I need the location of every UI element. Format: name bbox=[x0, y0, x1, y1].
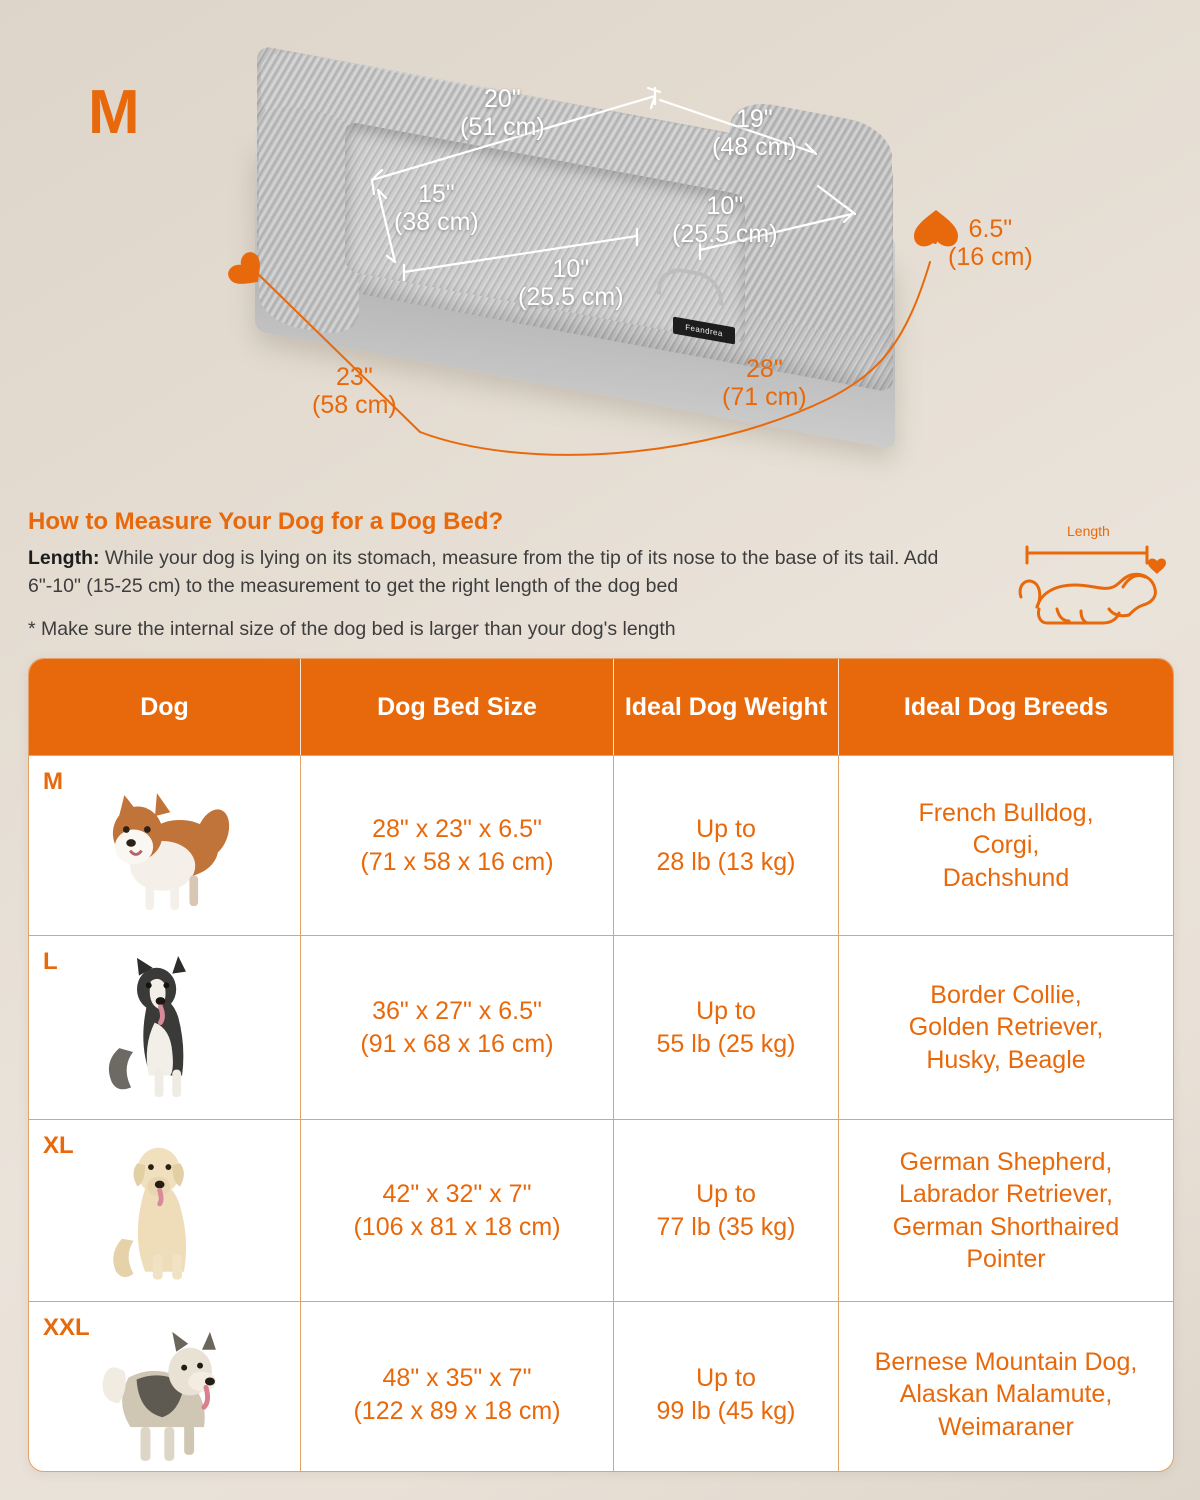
heart-icon bbox=[1148, 559, 1166, 574]
dim-bed-height: 6.5"(16 cm) bbox=[948, 215, 1033, 271]
row-dog-cell: L bbox=[29, 936, 301, 1119]
table-row: L 36" x 27" x 6.5"(91 x 68 x 16 cm) Up t… bbox=[29, 935, 1173, 1119]
table-header-breeds: Ideal Dog Breeds bbox=[839, 659, 1173, 755]
row-weight-cell: Up to77 lb (35 kg) bbox=[614, 1120, 839, 1301]
table-header-weight: Ideal Dog Weight bbox=[614, 659, 839, 755]
dim-top-right: 19"(48 cm) bbox=[712, 105, 797, 161]
row-bed-size-cell: 36" x 27" x 6.5"(91 x 68 x 16 cm) bbox=[301, 936, 614, 1119]
row-weight-cell: Up to99 lb (45 kg) bbox=[614, 1302, 839, 1472]
measure-length-text: While your dog is lying on its stomach, … bbox=[28, 547, 938, 597]
labrador-photo bbox=[87, 1138, 242, 1283]
row-size-label: XL bbox=[43, 1130, 74, 1161]
table-row: XL 42" x 32" x 7"(106 x 81 x 18 cm) Up t… bbox=[29, 1119, 1173, 1301]
diagram-length-label: Length bbox=[1067, 523, 1110, 539]
measure-title: How to Measure Your Dog for a Dog Bed? bbox=[28, 508, 503, 536]
table-header-dog: Dog bbox=[29, 659, 301, 755]
dog-length-diagram: Length bbox=[1005, 525, 1175, 640]
row-breeds-cell: French Bulldog, Corgi, Dachshund bbox=[839, 756, 1173, 935]
table-header-bed-size: Dog Bed Size bbox=[301, 659, 614, 755]
measure-description: Length: While your dog is lying on its s… bbox=[28, 545, 978, 600]
border-collie-photo bbox=[86, 954, 243, 1101]
row-size-label: XXL bbox=[43, 1312, 90, 1343]
measure-note: * Make sure the internal size of the dog… bbox=[28, 618, 676, 641]
table-header-row: Dog Dog Bed Size Ideal Dog Weight Ideal … bbox=[29, 659, 1173, 755]
row-size-label: L bbox=[43, 946, 58, 977]
row-bed-size-cell: 28" x 23" x 6.5"(71 x 58 x 16 cm) bbox=[301, 756, 614, 935]
table-row: XXL 48" x 35" x 7"(122 x 89 x 18 cm) bbox=[29, 1301, 1173, 1472]
dim-front-width: 10"(25.5 cm) bbox=[518, 255, 624, 311]
size-badge: M bbox=[88, 82, 141, 144]
row-size-label: M bbox=[43, 766, 63, 797]
dim-bed-length: 28"(71 cm) bbox=[722, 355, 807, 411]
product-hero: M Feandrea bbox=[0, 0, 1200, 490]
row-breeds-cell: Bernese Mountain Dog, Alaskan Malamute, … bbox=[839, 1302, 1173, 1472]
dim-top-width: 20"(51 cm) bbox=[460, 85, 545, 141]
table-row: M 28" x 23" x 6.5"(71 x 58 x 16 cm) U bbox=[29, 755, 1173, 935]
dog-outline-icon bbox=[1005, 525, 1175, 640]
dim-right-side: 10"(25.5 cm) bbox=[672, 192, 778, 248]
alaskan-malamute-photo bbox=[85, 1320, 244, 1469]
row-breeds-cell: Border Collie, Golden Retriever, Husky, … bbox=[839, 936, 1173, 1119]
size-chart-table: Dog Dog Bed Size Ideal Dog Weight Ideal … bbox=[28, 658, 1174, 1472]
row-breeds-cell: German Shepherd, Labrador Retriever, Ger… bbox=[839, 1120, 1173, 1301]
measure-length-label: Length: bbox=[28, 547, 99, 569]
row-dog-cell: M bbox=[29, 756, 301, 935]
corgi-photo bbox=[88, 774, 241, 918]
row-bed-size-cell: 42" x 32" x 7"(106 x 81 x 18 cm) bbox=[301, 1120, 614, 1301]
row-weight-cell: Up to55 lb (25 kg) bbox=[614, 936, 839, 1119]
row-dog-cell: XXL bbox=[29, 1302, 301, 1472]
row-dog-cell: XL bbox=[29, 1120, 301, 1301]
dim-bed-depth: 23"(58 cm) bbox=[312, 363, 397, 419]
bed-bolster-left bbox=[259, 101, 359, 340]
row-bed-size-cell: 48" x 35" x 7"(122 x 89 x 18 cm) bbox=[301, 1302, 614, 1472]
row-weight-cell: Up to28 lb (13 kg) bbox=[614, 756, 839, 935]
dim-left-depth: 15"(38 cm) bbox=[394, 180, 479, 236]
